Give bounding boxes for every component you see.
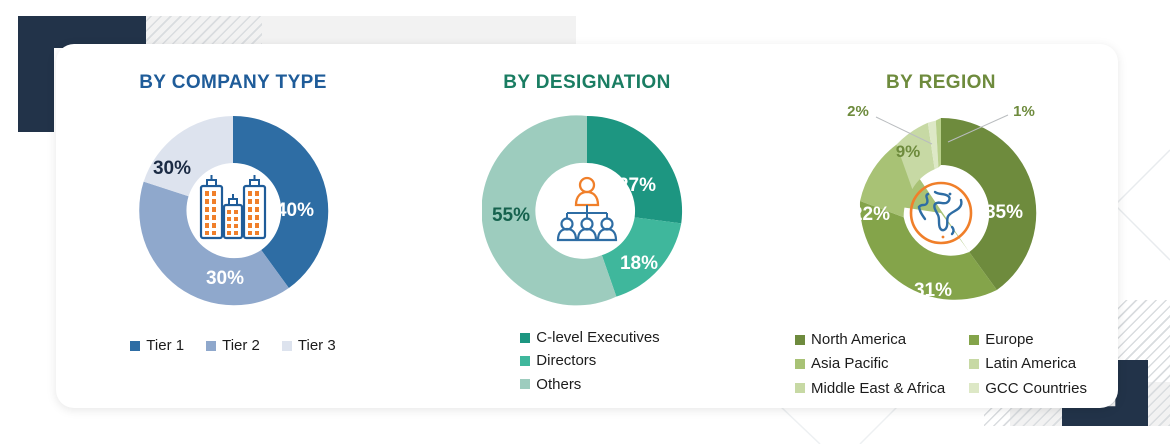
legend-swatch-icon [969, 359, 979, 369]
legend-label: North America [811, 328, 906, 351]
legend-swatch-icon [520, 356, 530, 366]
chart-title-company-type: BY COMPANY TYPE [139, 72, 327, 94]
slice-value-middle-east-africa: 2% [847, 103, 869, 120]
slice-value-others: 55% [492, 205, 530, 226]
legend-label: GCC Countries [985, 377, 1087, 400]
legend-label: Europe [985, 328, 1033, 351]
org-chart-people-icon [558, 178, 616, 240]
legend-swatch-icon [795, 359, 805, 369]
donut-chart-designation: 27% 18% 55% [482, 106, 692, 316]
chart-title-region: BY REGION [886, 72, 996, 94]
chart-panel-company-type: BY COMPANY TYPE 40% 30% 30% [56, 44, 410, 408]
slice-value-directors: 18% [620, 253, 658, 274]
legend-swatch-icon [520, 379, 530, 389]
legend-region: North America Europe Asia Pacific Latin … [795, 328, 1087, 400]
infographic-card: BY COMPANY TYPE 40% 30% 30% [56, 44, 1118, 408]
slice-value-gcc-countries: 1% [1013, 103, 1035, 120]
legend-swatch-icon [795, 335, 805, 345]
legend-label: Directors [536, 349, 596, 372]
legend-swatch-icon [969, 383, 979, 393]
donut-chart-region: 35% 31% 22% 9% 2% 1% [826, 100, 1056, 318]
legend-item-asia-pacific[interactable]: Asia Pacific [795, 352, 945, 375]
slice-value-c-level: 27% [618, 175, 656, 196]
legend-label: Middle East & Africa [811, 377, 945, 400]
slice-value-north-america: 35% [985, 202, 1023, 223]
legend-item-others[interactable]: Others [520, 373, 581, 396]
slice-value-latin-america: 9% [896, 142, 921, 161]
legend-label: Tier 3 [298, 334, 336, 357]
legend-item-middle-east-africa[interactable]: Middle East & Africa [795, 377, 945, 400]
legend-item-tier-1[interactable]: Tier 1 [130, 334, 184, 357]
legend-label: C-level Executives [536, 326, 659, 349]
legend-swatch-icon [282, 341, 292, 351]
legend-label: Others [536, 373, 581, 396]
legend-item-tier-3[interactable]: Tier 3 [282, 334, 336, 357]
legend-label: Tier 2 [222, 334, 260, 357]
office-buildings-icon [201, 175, 265, 238]
legend-item-latin-america[interactable]: Latin America [969, 352, 1087, 375]
legend-item-gcc-countries[interactable]: GCC Countries [969, 377, 1087, 400]
slice-value-tier-3: 30% [153, 158, 191, 179]
legend-label: Latin America [985, 352, 1076, 375]
legend-designation: C-level Executives Directors Others [514, 326, 659, 396]
slice-value-tier-2: 30% [206, 268, 244, 289]
chart-panel-designation: BY DESIGNATION 27% 18% 55% [410, 44, 764, 408]
legend-swatch-icon [130, 341, 140, 351]
legend-swatch-icon [206, 341, 216, 351]
donut-chart-company-type: 40% 30% 30% [128, 106, 338, 316]
legend-swatch-icon [969, 335, 979, 345]
legend-item-europe[interactable]: Europe [969, 328, 1087, 351]
legend-swatch-icon [520, 333, 530, 343]
legend-swatch-icon [795, 383, 805, 393]
legend-item-c-level-executives[interactable]: C-level Executives [520, 326, 659, 349]
slice-value-tier-1: 40% [276, 200, 314, 221]
donut-slice-c-level-executives[interactable] [587, 116, 682, 223]
chart-title-designation: BY DESIGNATION [503, 72, 670, 94]
legend-item-directors[interactable]: Directors [520, 349, 596, 372]
legend-company-type: Tier 1 Tier 2 Tier 3 [130, 334, 335, 357]
donut-slice-tier-3[interactable] [144, 116, 233, 196]
legend-label: Tier 1 [146, 334, 184, 357]
slice-value-asia-pacific: 22% [852, 204, 890, 225]
chart-panel-region: BY REGION 35% 31% [764, 44, 1118, 408]
legend-label: Asia Pacific [811, 352, 889, 375]
legend-item-tier-2[interactable]: Tier 2 [206, 334, 260, 357]
legend-item-north-america[interactable]: North America [795, 328, 945, 351]
slice-value-europe: 31% [914, 280, 952, 301]
